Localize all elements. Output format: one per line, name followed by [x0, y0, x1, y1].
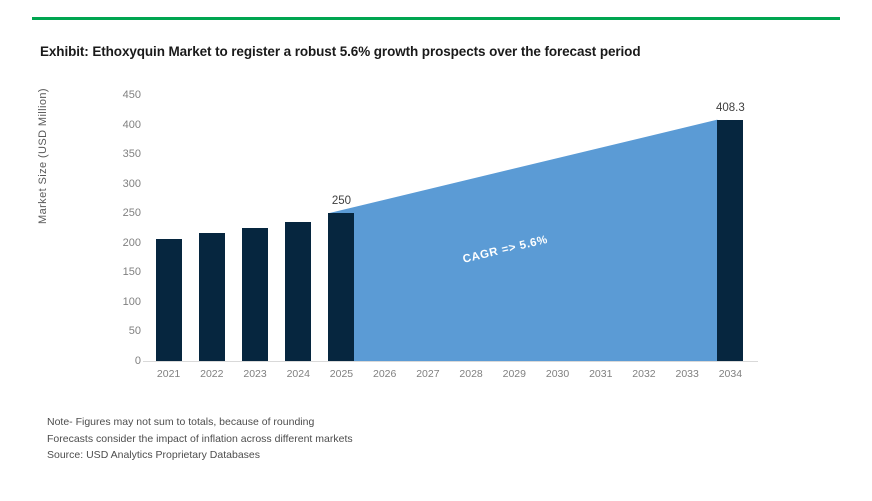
footnotes: Note- Figures may not sum to totals, bec…	[47, 414, 353, 464]
y-tick-0: 0	[105, 355, 141, 367]
bar-2023	[242, 228, 268, 361]
bar-2025	[328, 213, 354, 361]
x-tick-2026: 2026	[373, 368, 396, 380]
y-tick-250: 250	[105, 207, 141, 219]
x-tick-2032: 2032	[632, 368, 655, 380]
y-tick-150: 150	[105, 266, 141, 278]
x-tick-2028: 2028	[459, 368, 482, 380]
bar-2034	[717, 120, 743, 361]
y-tick-350: 350	[105, 148, 141, 160]
x-tick-2034: 2034	[719, 368, 742, 380]
bar-2021	[156, 239, 182, 361]
x-tick-2031: 2031	[589, 368, 612, 380]
chart-page: Exhibit: Ethoxyquin Market to register a…	[0, 0, 872, 501]
x-tick-2033: 2033	[675, 368, 698, 380]
y-tick-400: 400	[105, 119, 141, 131]
y-axis-tick-labels: 050100150200250300350400450	[105, 93, 141, 368]
cagr-band	[147, 95, 752, 361]
x-tick-2022: 2022	[200, 368, 223, 380]
note-line-3: Source: USD Analytics Proprietary Databa…	[47, 447, 353, 464]
data-label-2025: 250	[332, 195, 351, 207]
bar-2022	[199, 233, 225, 361]
x-tick-2029: 2029	[503, 368, 526, 380]
note-line-2: Forecasts consider the impact of inflati…	[47, 431, 353, 448]
x-tick-2024: 2024	[287, 368, 310, 380]
x-tick-2023: 2023	[243, 368, 266, 380]
y-tick-100: 100	[105, 296, 141, 308]
x-axis-tick-labels: 2021202220232024202520262027202820292030…	[147, 368, 752, 386]
x-axis-line	[143, 361, 758, 362]
y-tick-300: 300	[105, 178, 141, 190]
y-tick-50: 50	[105, 325, 141, 337]
bar-2024	[285, 222, 311, 361]
x-tick-2027: 2027	[416, 368, 439, 380]
x-tick-2030: 2030	[546, 368, 569, 380]
y-tick-200: 200	[105, 237, 141, 249]
note-line-1: Note- Figures may not sum to totals, bec…	[47, 414, 353, 431]
y-tick-450: 450	[105, 89, 141, 101]
x-tick-2025: 2025	[330, 368, 353, 380]
data-label-2034: 408.3	[716, 102, 745, 114]
y-axis-title: Market Size (USD Million)	[37, 61, 49, 251]
plot-area	[147, 95, 752, 361]
x-tick-2021: 2021	[157, 368, 180, 380]
